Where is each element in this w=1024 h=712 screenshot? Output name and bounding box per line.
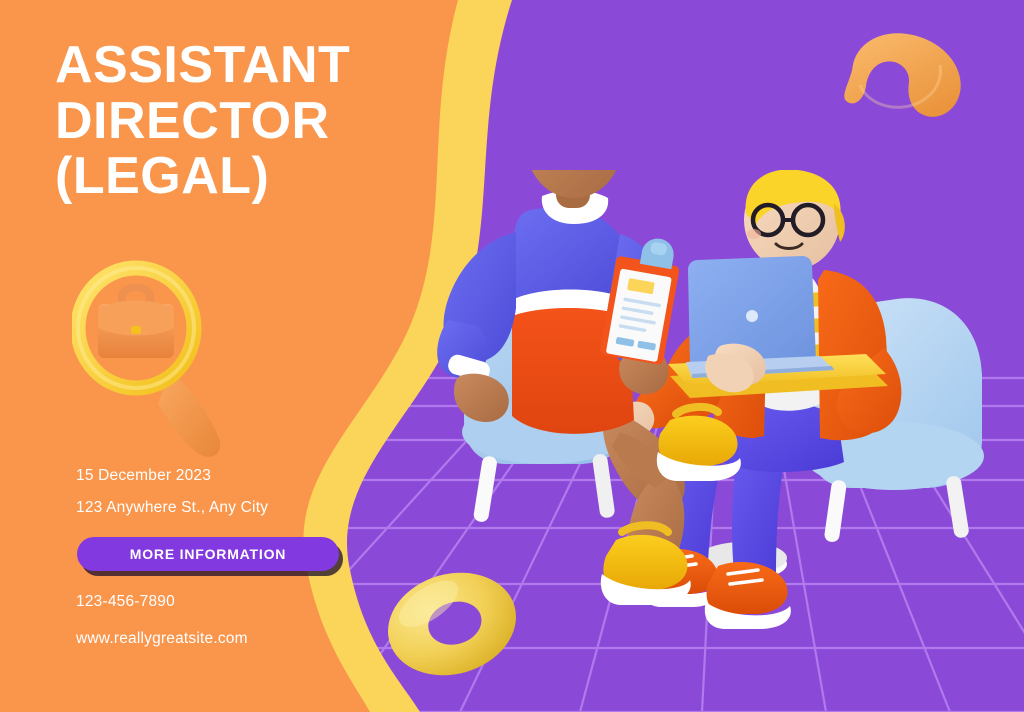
event-address: 123 Anywhere St., Any City (76, 500, 376, 516)
phone-number[interactable]: 123-456-7890 (76, 594, 396, 610)
website-url[interactable]: www.reallygreatsite.com (76, 631, 396, 647)
yellow-torus-shape (385, 568, 520, 680)
contact-details: 123-456-7890 www.reallygreatsite.com (76, 594, 396, 667)
interviewer-head (527, 170, 623, 198)
briefcase-icon (98, 284, 174, 358)
more-information-button[interactable]: MORE INFORMATION (77, 537, 339, 571)
headline-line-3: (LEGAL) (55, 149, 435, 205)
event-date: 15 December 2023 (76, 468, 376, 484)
cta-container: MORE INFORMATION (77, 537, 339, 571)
event-details: 15 December 2023 123 Anywhere St., Any C… (76, 468, 376, 531)
page-title: ASSISTANT DIRECTOR (LEGAL) (55, 38, 435, 205)
briefcase-in-magnifier-icon (72, 252, 232, 467)
orange-arc-shape (838, 25, 978, 125)
candidate-head (744, 170, 845, 270)
headline-line-1: ASSISTANT (55, 38, 435, 94)
headline-line-2: DIRECTOR (55, 94, 435, 150)
poster-canvas: ASSISTANT DIRECTOR (LEGAL) 15 December 2… (0, 0, 1024, 712)
